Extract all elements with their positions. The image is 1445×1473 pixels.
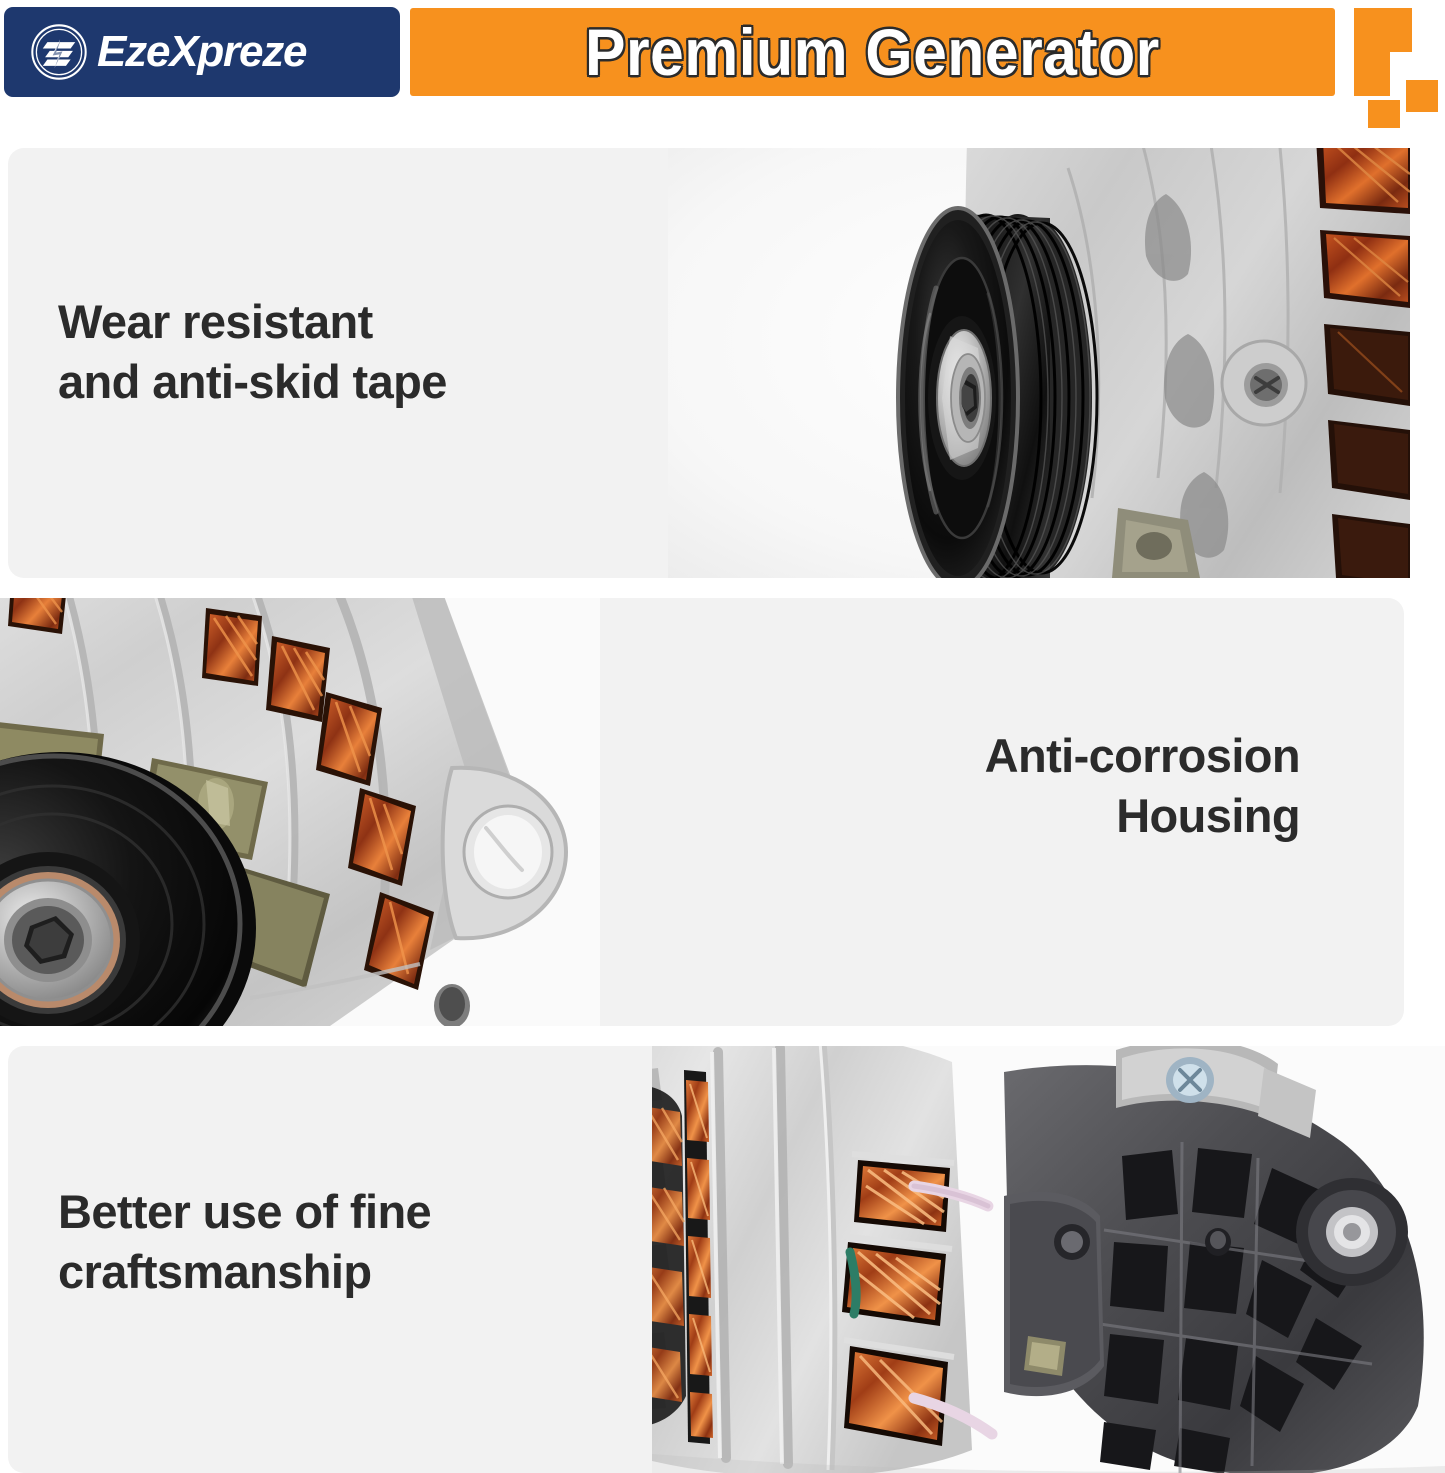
orange-pixel-blocks-icon xyxy=(1349,4,1445,128)
circle-z-bolt-emblem-icon xyxy=(30,23,88,81)
brand-logo-plate: EzeXpreze xyxy=(4,7,400,97)
panel-2-caption: Anti-corrosion Housing xyxy=(760,726,1300,846)
panel-3-caption: Better use of fine craftsmanship xyxy=(58,1182,678,1302)
page-header: EzeXpreze Premium Generator xyxy=(0,0,1445,104)
alternator-housing-closeup-image xyxy=(0,598,600,1026)
alternator-body-closeup-image xyxy=(652,1046,1445,1473)
page-title: Premium Generator xyxy=(585,19,1160,85)
panel-1-caption: Wear resistant and anti-skid tape xyxy=(58,292,678,412)
alternator-pulley-closeup-image xyxy=(668,148,1410,578)
brand-name-text: EzeXpreze xyxy=(97,30,306,74)
title-banner: Premium Generator xyxy=(410,8,1335,96)
